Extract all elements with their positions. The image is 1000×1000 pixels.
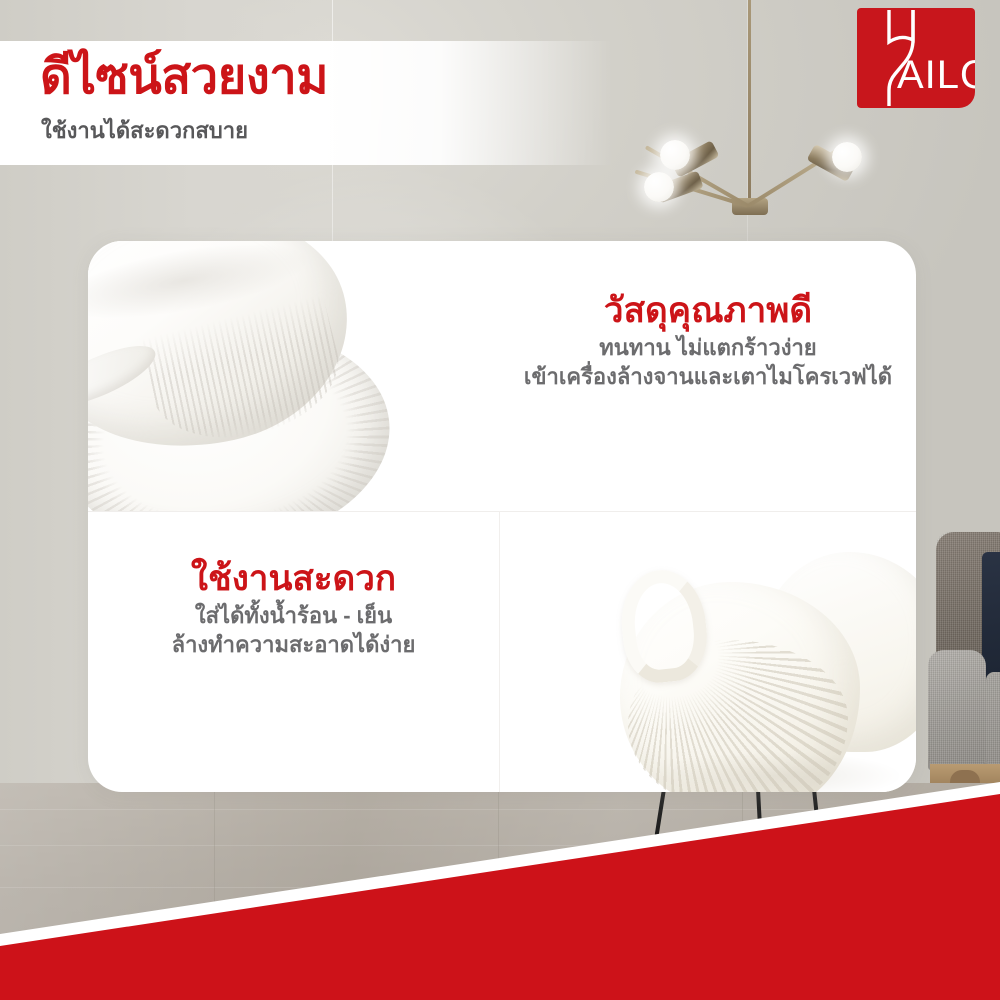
feature-title: ใช้งานสะดวก [88,557,499,601]
page-title: ดีไซน์สวยงาม [40,52,328,103]
ailo-glass-icon: AILO [857,8,975,108]
sofa-armrest [928,650,986,770]
product-photo-cup-handle [500,512,916,792]
feature-line: เข้าเครื่องล้างจานและเตาไมโครเวฟได้ [500,362,916,391]
cup-contact-shadow [650,752,900,792]
product-photo-cup-saucer [88,241,499,511]
svg-text:AILO: AILO [897,53,975,97]
feature-line: ล้างทำความสะอาดได้ง่าย [88,630,499,659]
chandelier-bulb-icon [660,140,690,170]
chandelier-bulb-icon [644,172,674,202]
feature-line: ใส่ได้ทั้งน้ำร้อน - เย็น [88,601,499,630]
feature-block-material: วัสดุคุณภาพดี ทนทาน ไม่แตกร้าวง่าย เข้าเ… [500,289,916,391]
feature-title: วัสดุคุณภาพดี [500,289,916,333]
page-subtitle: ใช้งานได้สะดวกสบาย [41,118,248,144]
banner-canvas: ดีไซน์สวยงาม ใช้งานได้สะดวกสบาย AILO วัส… [0,0,1000,1000]
chandelier-bulb-icon [832,142,862,172]
sofa-seat [986,672,1000,770]
brand-logo[interactable]: AILO [857,8,975,108]
feature-block-usability: ใช้งานสะดวก ใส่ได้ทั้งน้ำร้อน - เย็น ล้า… [88,557,499,659]
feature-line: ทนทาน ไม่แตกร้าวง่าย [500,333,916,362]
chandelier-cord [748,0,751,205]
feature-card: วัสดุคุณภาพดี ทนทาน ไม่แตกร้าวง่าย เข้าเ… [88,241,916,792]
sofa [928,532,1000,790]
